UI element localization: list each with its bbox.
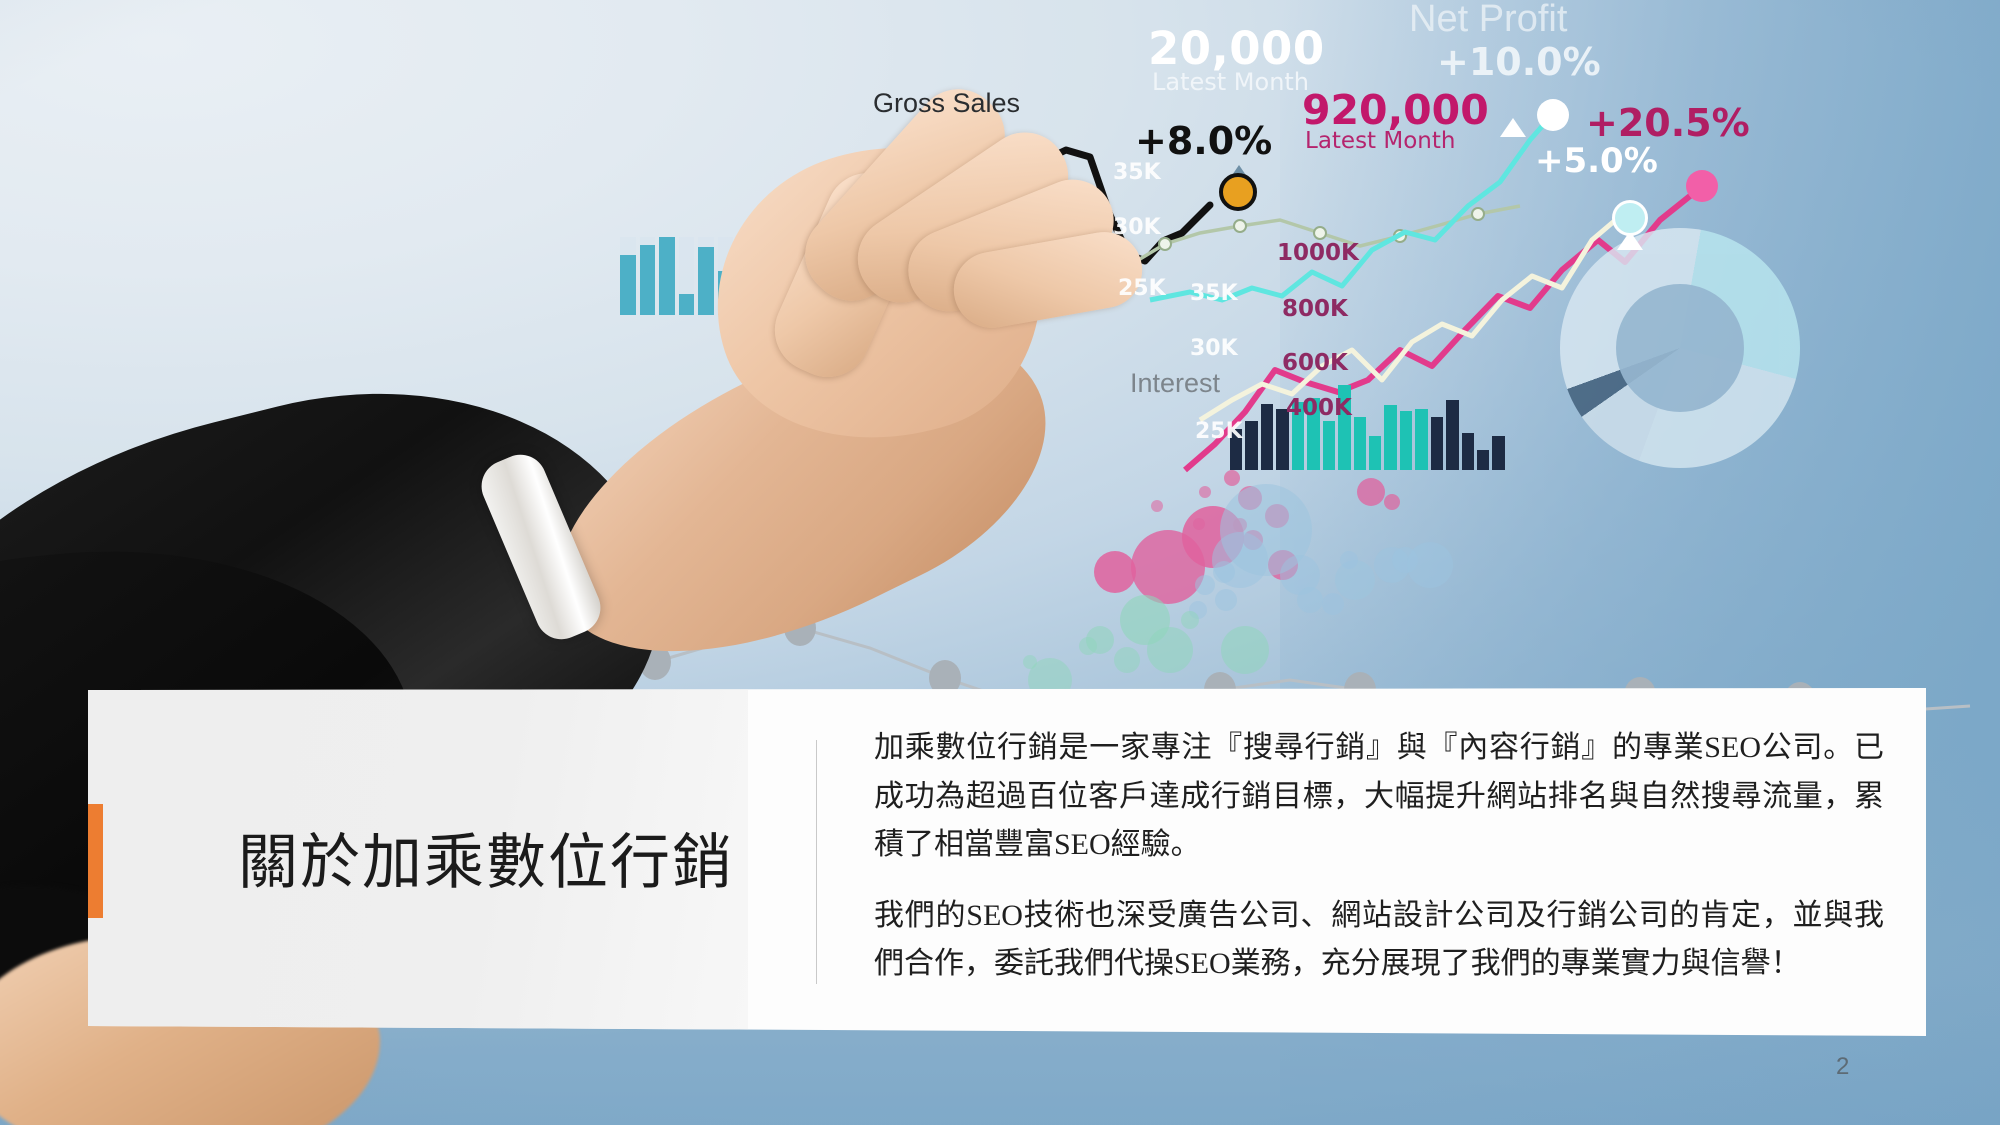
body-text: 加乘數位行銷是一家專注『搜尋行銷』與『內容行銷』的專業SEO公司。已成功為超過百… (874, 724, 1884, 989)
slide: Gross Sales Interest Net Profit 20,000 L… (0, 0, 2000, 1125)
page-title: 關於加乘數位行銷 (238, 814, 858, 901)
paragraph-1: 加乘數位行銷是一家專注『搜尋行銷』與『內容行銷』的專業SEO公司。已成功為超過百… (874, 724, 1884, 870)
paragraph-2: 我們的SEO技術也深受廣告公司、網站設計公司及行銷公司的肯定，並與我們合作，委託… (874, 892, 1884, 989)
page-number: 2 (1836, 1053, 1849, 1081)
content-panel: 關於加乘數位行銷 加乘數位行銷是一家專注『搜尋行銷』與『內容行銷』的專業SEO公… (88, 688, 1926, 1036)
vertical-divider (816, 740, 817, 984)
